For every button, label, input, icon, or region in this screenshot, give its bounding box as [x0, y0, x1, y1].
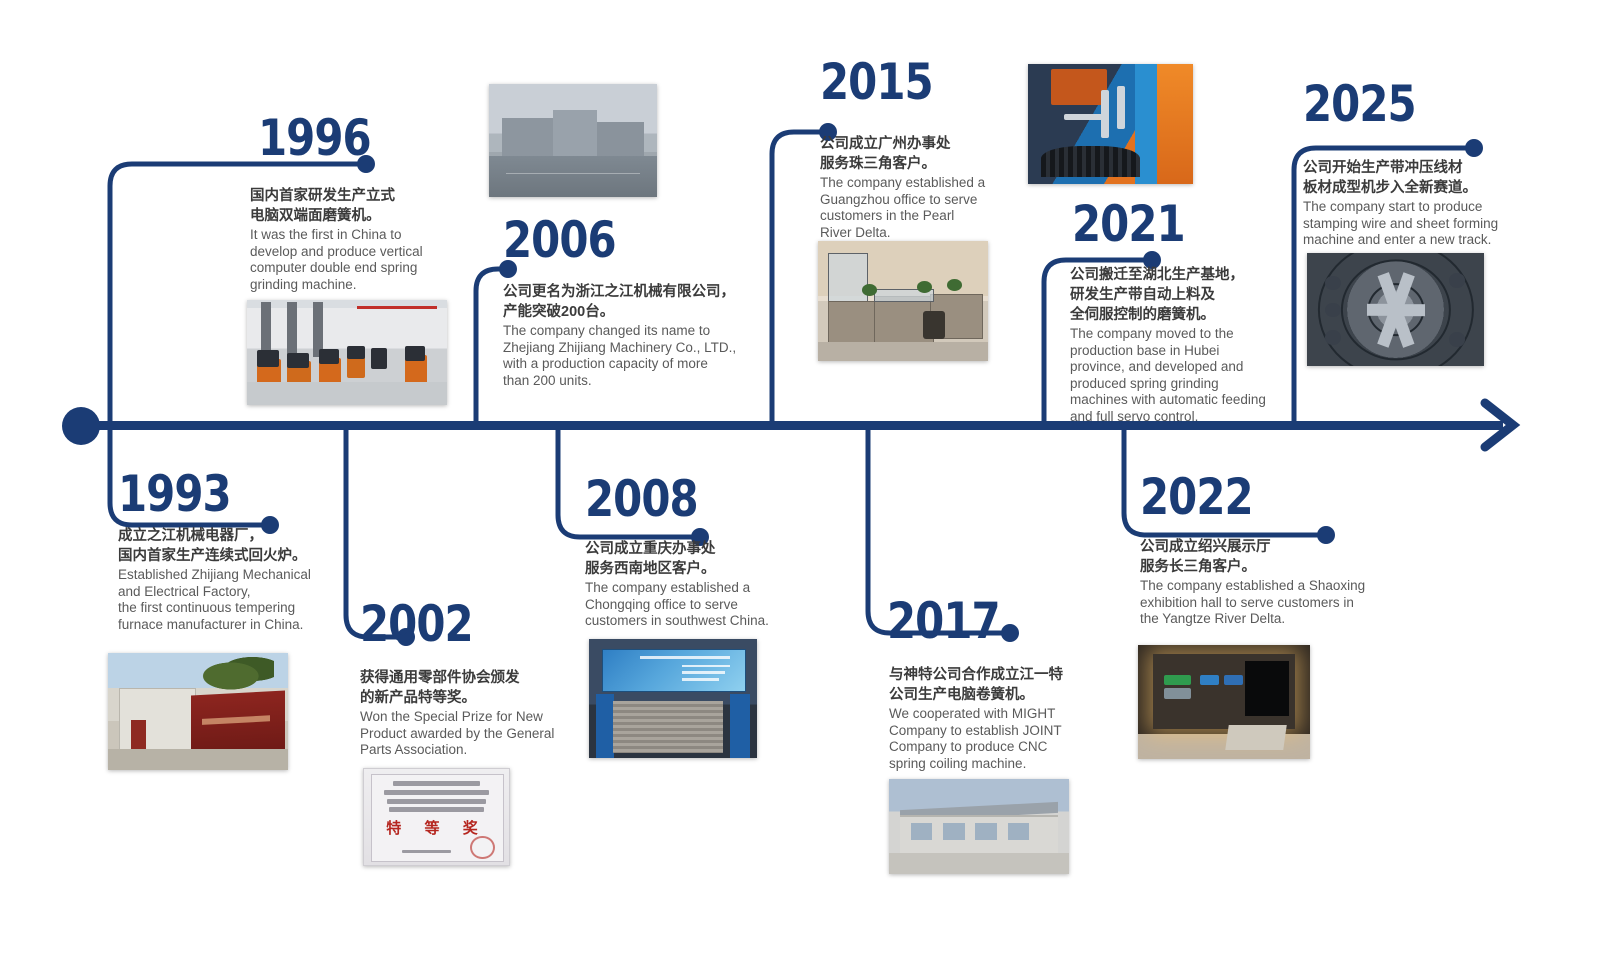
photo-content: 特 等 奖 [364, 769, 509, 865]
timeline-arrow-head-icon [1479, 398, 1535, 454]
photo-content [1138, 645, 1310, 759]
workshop-building-photo[interactable] [889, 779, 1069, 874]
timeline-start-dot-icon [62, 407, 100, 445]
timeline-entry-2025[interactable]: 2025 [1303, 78, 1523, 130]
year-label-1996: 1996 [258, 112, 444, 164]
timeline-entry-2022[interactable]: 2022 [1140, 471, 1360, 523]
factory-exterior-aerial-photo[interactable] [489, 84, 657, 197]
timeline-entry-2022-body: 公司成立绍兴展示厅 服务长三角客户。 The company establish… [1140, 537, 1398, 628]
timeline-entry-1996-body: 国内首家研发生产立式 电脑双端面磨簧机。 It was the first in… [250, 186, 455, 293]
timeline-entry-2021-body: 公司搬迁至湖北生产基地， 研发生产带自动上料及 全伺服控制的磨簧机。 The c… [1070, 265, 1280, 425]
timeline-entry-1993[interactable]: 1993 成立之江机械电器厂， 国内首家生产连续式回火炉。 Establishe… [118, 468, 398, 633]
description-cn-2017: 与神特公司合作成立江一特 公司生产电脑卷簧机。 [889, 665, 1089, 705]
photo-content [1307, 253, 1484, 366]
year-label-2006: 2006 [503, 214, 708, 266]
description-cn-2002: 获得通用零部件协会颁发 的新产品特等奖。 [360, 668, 578, 708]
photo-content [889, 779, 1069, 874]
year-label-2017: 2017 [887, 595, 1092, 647]
photo-content [489, 84, 657, 197]
timeline-entry-2006-body: 公司更名为浙江之江机械有限公司， 产能突破200台。 The company c… [503, 282, 748, 389]
description-cn-2006: 公司更名为浙江之江机械有限公司， 产能突破200台。 [503, 282, 748, 322]
year-label-2015: 2015 [820, 56, 1025, 108]
year-label-2025: 2025 [1303, 78, 1508, 130]
description-en-2002: Won the Special Prize for New Product aw… [360, 709, 578, 759]
timeline-entry-2008-body: 公司成立重庆办事处 服务西南地区客户。 The company establis… [585, 539, 810, 630]
year-label-2008: 2008 [585, 473, 790, 525]
description-en-2025: The company start to produce stamping wi… [1303, 199, 1528, 249]
timeline-entry-2008[interactable]: 2008 [585, 473, 805, 525]
guangzhou-office-interior-photo[interactable] [818, 241, 988, 361]
description-cn-2022: 公司成立绍兴展示厅 服务长三角客户。 [1140, 537, 1398, 577]
old-factory-red-sign-photo[interactable] [108, 653, 288, 770]
description-en-2022: The company established a Shaoxing exhib… [1140, 578, 1398, 628]
certificate-award-text: 特 等 奖 [384, 817, 488, 836]
description-en-2008: The company established a Chongqing offi… [585, 580, 810, 630]
description-en-1996: It was the first in China to develop and… [250, 227, 455, 293]
description-en-2017: We cooperated with MIGHT Company to esta… [889, 706, 1089, 772]
factory-floor-orange-machines-photo[interactable] [247, 300, 447, 405]
description-cn-2025: 公司开始生产带冲压线材 板材成型机步入全新赛道。 [1303, 158, 1528, 198]
photo-content [108, 653, 288, 770]
description-cn-2015: 公司成立广州办事处 服务珠三角客户。 [820, 134, 1010, 174]
automatic-feeding-machine-photo[interactable] [1028, 64, 1193, 184]
stamping-forming-machine-head-photo[interactable] [1307, 253, 1484, 366]
description-cn-1996: 国内首家研发生产立式 电脑双端面磨簧机。 [250, 186, 455, 226]
photo-content [589, 639, 757, 758]
photo-content [247, 300, 447, 405]
timeline-entry-2015-body: 公司成立广州办事处 服务珠三角客户。 The company establish… [820, 134, 1010, 241]
year-label-2002: 2002 [360, 598, 565, 650]
year-label-2022: 2022 [1140, 471, 1345, 523]
description-en-2021: The company moved to the production base… [1070, 326, 1280, 425]
timeline-entry-2002-body: 获得通用零部件协会颁发 的新产品特等奖。 Won the Special Pri… [360, 668, 578, 759]
description-en-2006: The company changed its name to Zhejiang… [503, 323, 748, 389]
year-label-1993: 1993 [118, 468, 378, 520]
description-cn-1993: 成立之江机械电器厂， 国内首家生产连续式回火炉。 [118, 526, 398, 566]
shaoxing-exhibition-hall-photo[interactable] [1138, 645, 1310, 759]
timeline-entry-2017-body: 与神特公司合作成立江一特 公司生产电脑卷簧机。 We cooperated wi… [889, 665, 1089, 772]
description-cn-2021: 公司搬迁至湖北生产基地， 研发生产带自动上料及 全伺服控制的磨簧机。 [1070, 265, 1280, 325]
photo-content [1028, 64, 1193, 184]
year-label-2021: 2021 [1072, 198, 1277, 250]
chongqing-office-storefront-photo[interactable] [589, 639, 757, 758]
timeline-entry-2021[interactable]: 2021 [1072, 198, 1292, 250]
timeline-entry-2015[interactable]: 2015 [820, 56, 1040, 108]
description-cn-2008: 公司成立重庆办事处 服务西南地区客户。 [585, 539, 810, 579]
timeline-infographic: 1993 成立之江机械电器厂， 国内首家生产连续式回火炉。 Establishe… [0, 0, 1600, 959]
timeline-entry-1996[interactable]: 1996 [258, 112, 458, 164]
timeline-entry-2006[interactable]: 2006 [503, 214, 723, 266]
timeline-entry-2002[interactable]: 2002 [360, 598, 580, 650]
special-prize-certificate-photo[interactable]: 特 等 奖 [363, 768, 510, 866]
timeline-entry-2025-body: 公司开始生产带冲压线材 板材成型机步入全新赛道。 The company sta… [1303, 158, 1528, 249]
photo-content [818, 241, 988, 361]
timeline-entry-2017[interactable]: 2017 [887, 595, 1107, 647]
description-en-2015: The company established a Guangzhou offi… [820, 175, 1010, 241]
description-en-1993: Established Zhijiang Mechanical and Elec… [118, 567, 398, 633]
